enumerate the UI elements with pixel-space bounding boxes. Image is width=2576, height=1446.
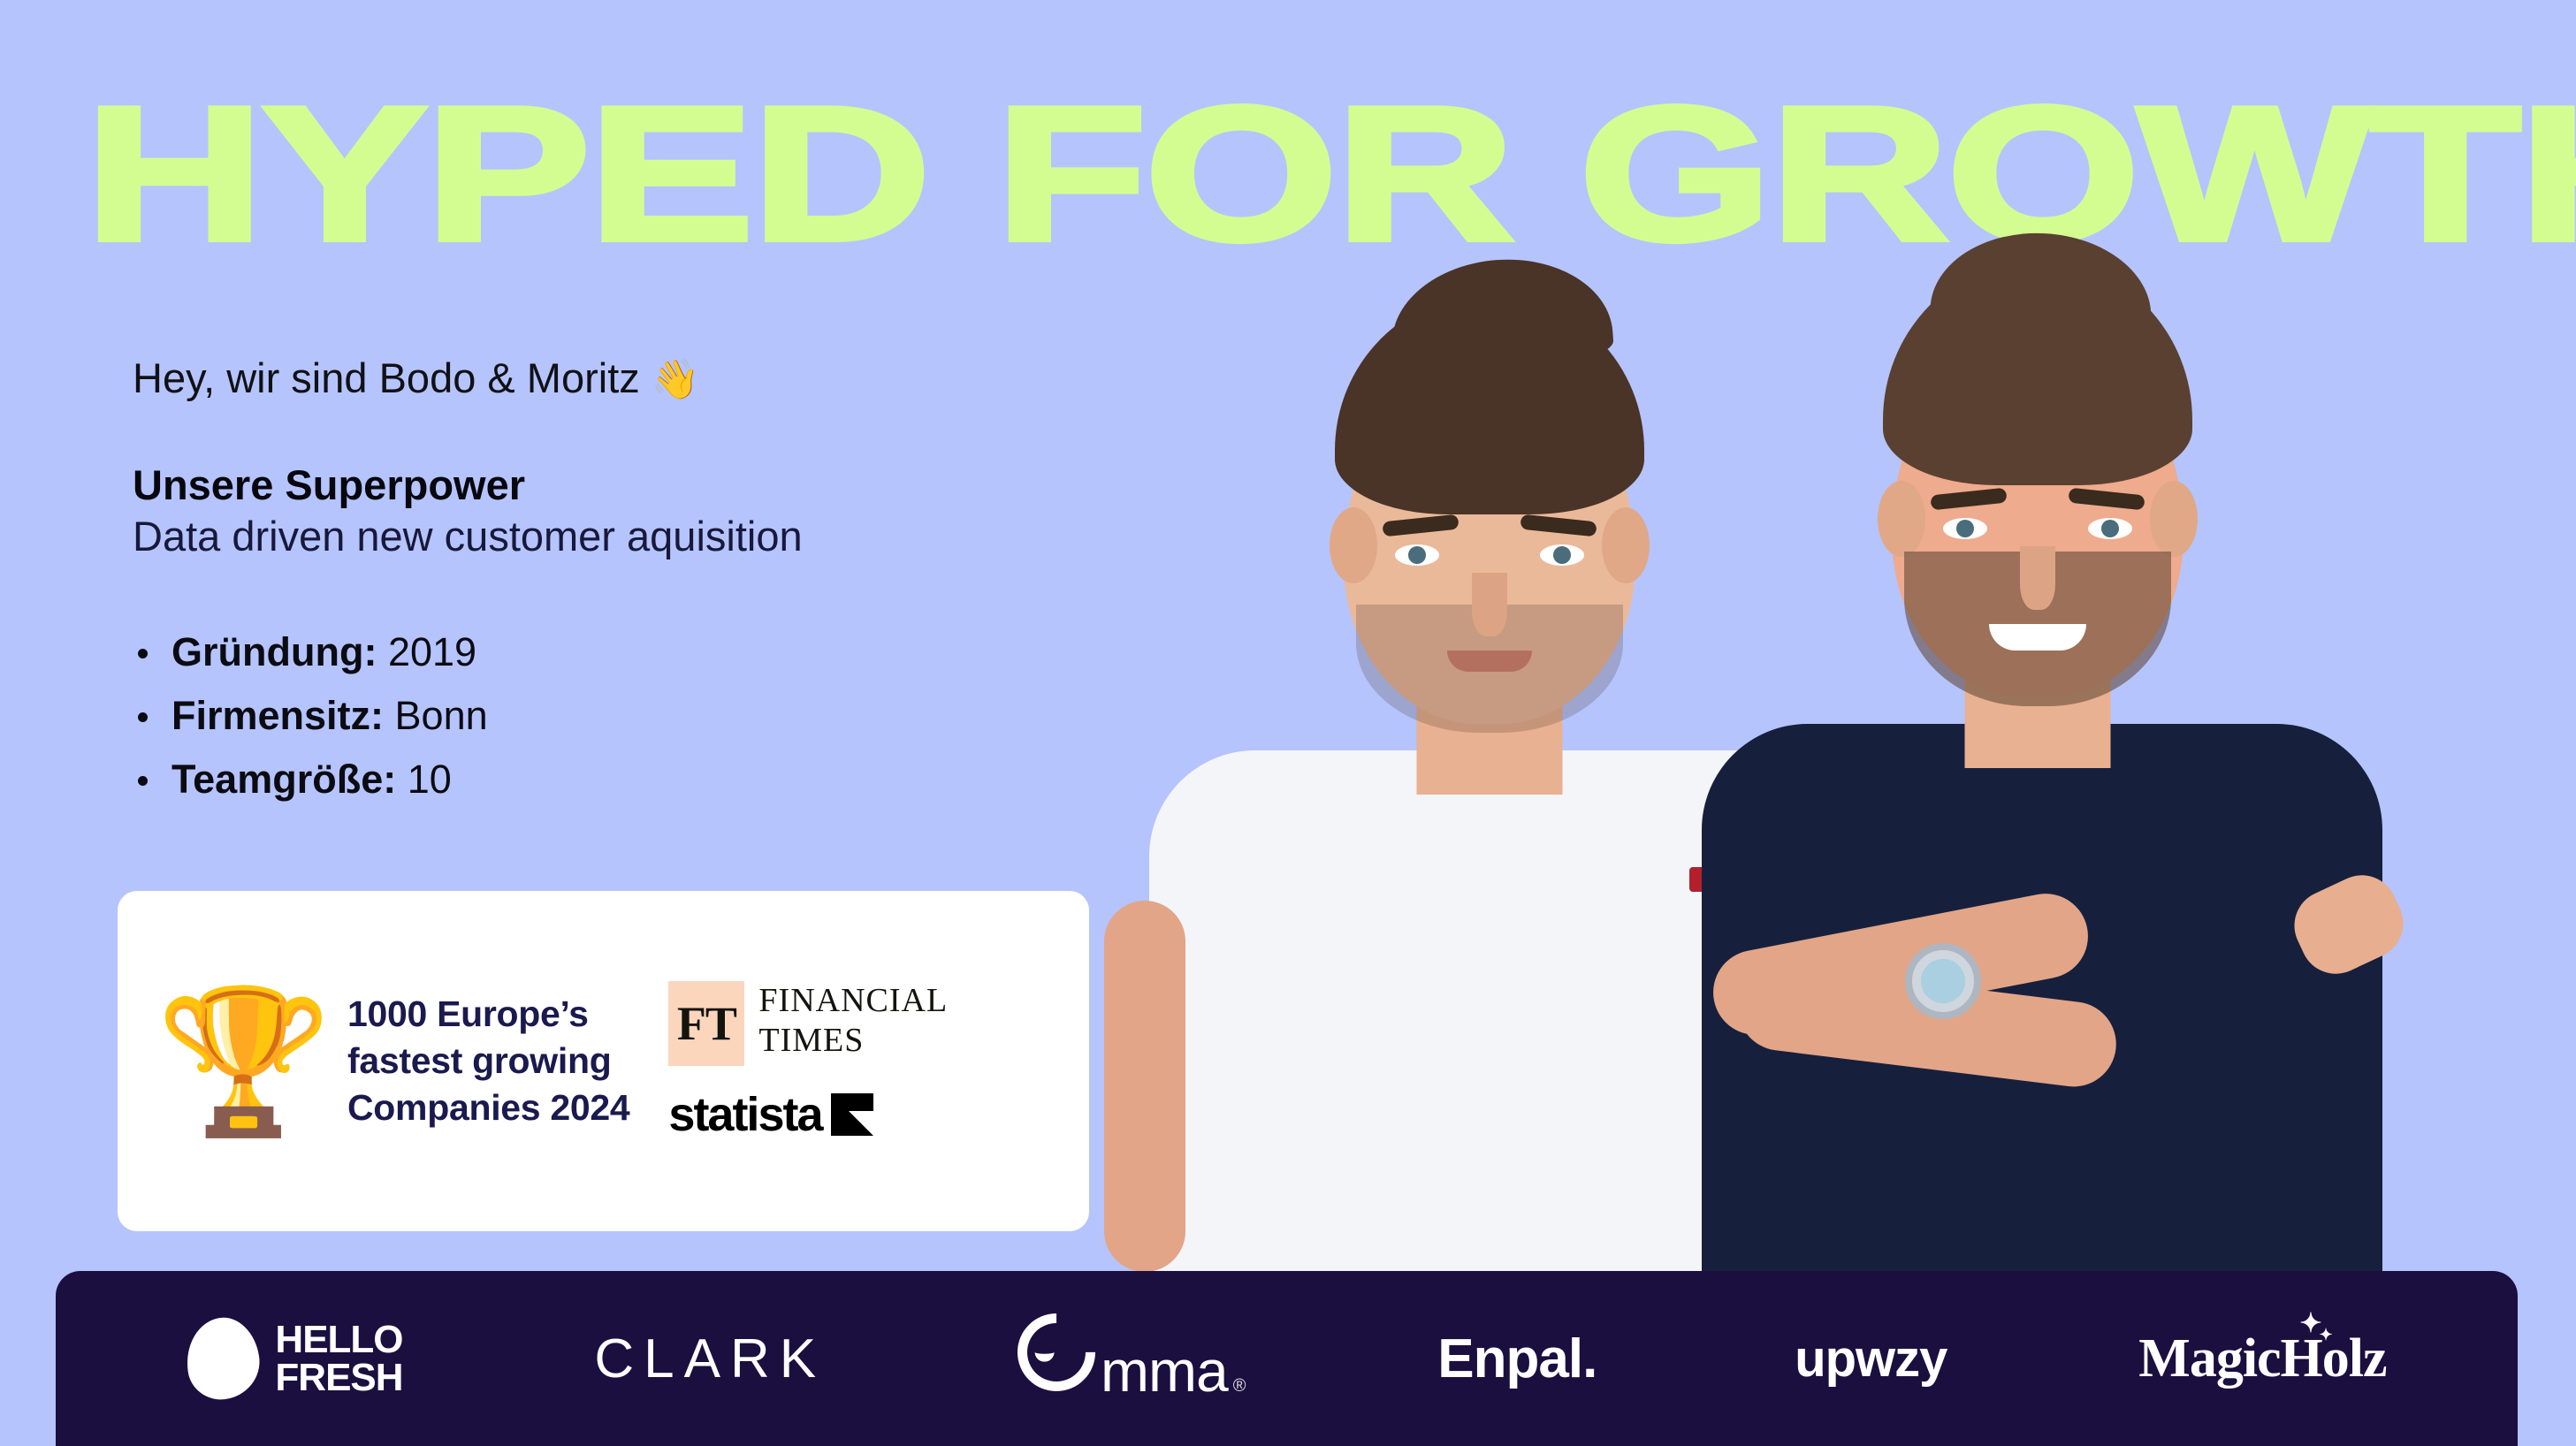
eyebrow-right [1520, 514, 1597, 537]
hellofresh-line-2: FRESH [275, 1358, 402, 1397]
greeting-text: Hey, wir sind Bodo & Moritz [133, 354, 640, 401]
eye-right [2088, 518, 2132, 539]
hellofresh-leaf-icon [181, 1313, 264, 1404]
logo-hellofresh[interactable]: HELLO FRESH [187, 1318, 402, 1399]
registered-trademark-icon: ® [1233, 1376, 1246, 1397]
head [1344, 357, 1635, 724]
head [1892, 331, 2184, 697]
founders-photo [1109, 190, 2576, 1272]
logo-clark[interactable]: CLARK [594, 1328, 826, 1390]
ear-right [1602, 507, 1650, 583]
list-item: Gründung: 2019 [133, 620, 803, 684]
superpower-title: Unsere Superpower [133, 460, 803, 511]
statista-wordmark: statista [668, 1087, 821, 1142]
hellofresh-wordmark: HELLO FRESH [275, 1320, 402, 1397]
greeting-line: Hey, wir sind Bodo & Moritz 👋 [133, 352, 803, 407]
person-right [1658, 190, 2418, 1272]
enpal-wordmark: Enpal [1437, 1328, 1582, 1390]
list-item: Firmensitz: Bonn [133, 684, 803, 748]
statista-logo: statista [668, 1087, 874, 1142]
fact-value: 10 [408, 757, 452, 802]
eye-left [1943, 518, 1987, 539]
superpower-subtitle: Data driven new customer aquisition [133, 511, 803, 562]
financial-times-logo: FT FINANCIAL TIMES [668, 981, 948, 1066]
trophy-icon: 🏆 [151, 986, 337, 1137]
intro-copy: Hey, wir sind Bodo & Moritz 👋 Unsere Sup… [133, 352, 803, 826]
ft-wordmark: FINANCIAL TIMES [758, 981, 948, 1066]
hair-quiff [1929, 228, 2155, 346]
client-logo-bar: HELLO FRESH CLARK mma ® Enpal . upwzy ✦ … [56, 1271, 2518, 1446]
award-line-3: Companies 2024 [347, 1084, 629, 1131]
ft-word-times: TIMES [758, 1021, 948, 1061]
eyebrow-left [1930, 488, 2007, 511]
sparkle-small-icon: ✦ [2319, 1326, 2331, 1344]
eyebrow-right [2068, 488, 2145, 511]
nose [1472, 573, 1507, 636]
award-card: 🏆 1000 Europe’s fastest growing Companie… [118, 891, 1089, 1231]
award-caption: 1000 Europe’s fastest growing Companies … [347, 991, 629, 1131]
logo-enpal[interactable]: Enpal . [1437, 1328, 1603, 1390]
hellofresh-line-1: HELLO [275, 1320, 402, 1358]
fact-label: Teamgröße: [171, 757, 396, 802]
waving-hand-icon: 👋 [652, 358, 700, 401]
mouth [1989, 624, 2086, 651]
eyebrow-left [1382, 514, 1459, 537]
fact-label: Firmensitz: [171, 693, 384, 738]
eye-left [1395, 544, 1439, 566]
bullet-icon [138, 712, 148, 722]
ft-word-financial: FINANCIAL [758, 981, 948, 1021]
wristwatch-icon [1905, 943, 1981, 1019]
ear-left [1330, 507, 1377, 583]
bullet-icon [138, 776, 148, 786]
ear-right [2150, 481, 2198, 557]
hair-quiff [1387, 252, 1615, 373]
logo-upwzy[interactable]: upwzy [1795, 1329, 1947, 1389]
company-facts-list: Gründung: 2019 Firmensitz: Bonn Teamgröß… [133, 620, 803, 811]
sparkle-icon: ✦ [2299, 1308, 2321, 1339]
award-sources: FT FINANCIAL TIMES statista [668, 981, 948, 1142]
ear-left [1878, 481, 1925, 557]
emma-wordmark: mma [1101, 1337, 1228, 1404]
fact-value: 2019 [388, 629, 476, 674]
logo-magicholz[interactable]: ✦ ✦ MagicHolz [2138, 1328, 2386, 1390]
mouth [1447, 651, 1532, 672]
award-line-2: fastest growing [347, 1038, 629, 1084]
superpower-block: Unsere Superpower Data driven new custom… [133, 460, 803, 562]
list-item: Teamgröße: 10 [133, 748, 803, 811]
emma-smile-icon [1002, 1297, 1111, 1406]
ft-monogram: FT [668, 981, 744, 1066]
statista-mark-icon [829, 1092, 875, 1138]
eye-right [1540, 544, 1584, 566]
enpal-dot-icon: . [1582, 1328, 1603, 1390]
nose [2020, 546, 2055, 610]
magicholz-wordmark: MagicHolz [2138, 1328, 2386, 1390]
award-line-1: 1000 Europe’s [347, 991, 629, 1038]
logo-emma[interactable]: mma ® [1017, 1313, 1246, 1404]
slide-canvas: HYPED FOR GROWTH [0, 0, 2576, 1446]
fact-value: Bonn [395, 693, 488, 738]
left-arm [1104, 901, 1185, 1272]
fact-label: Gründung: [171, 629, 377, 674]
bullet-icon [138, 649, 148, 658]
